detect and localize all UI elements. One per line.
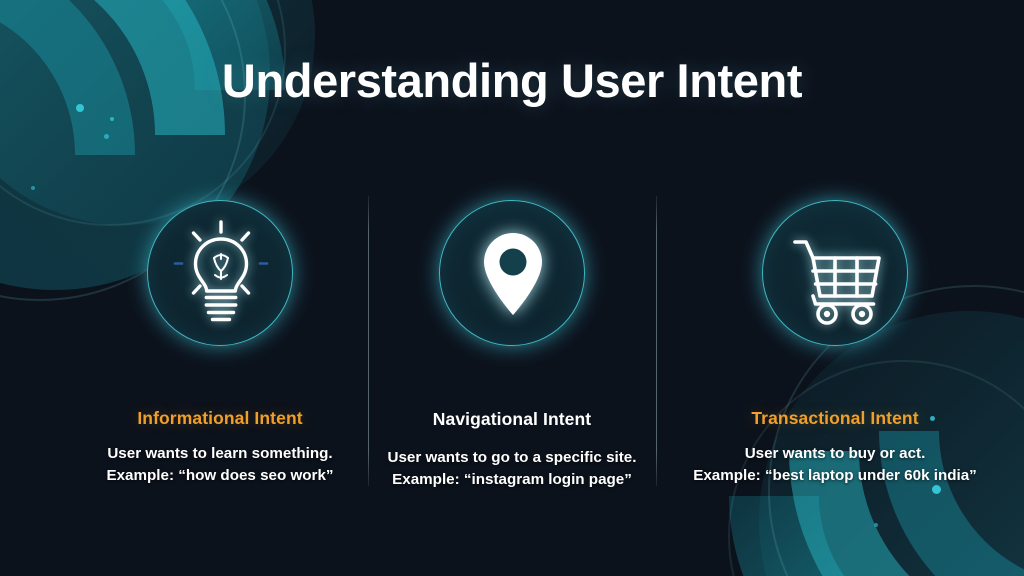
icon-badge-navigational: [439, 200, 585, 346]
description-navigational: User wants to go to a specific site. Exa…: [332, 447, 692, 492]
lightbulb-icon: [148, 201, 294, 347]
icon-badge-informational: [147, 200, 293, 346]
shopping-cart-icon: [763, 201, 909, 347]
heading-transactional: Transactional Intent: [655, 408, 1015, 429]
accent-dot: [104, 134, 109, 139]
description-line-2: Example: “best laptop under 60k india”: [655, 465, 1015, 487]
accent-dot: [874, 523, 878, 527]
column-transactional: Transactional Intent User wants to buy o…: [655, 200, 1015, 488]
description-line-1: User wants to buy or act.: [655, 443, 1015, 465]
accent-dot: [110, 117, 114, 121]
description-line-1: User wants to go to a specific site.: [332, 447, 692, 469]
page-title: Understanding User Intent: [0, 53, 1024, 108]
map-pin-icon: [440, 201, 586, 347]
icon-badge-transactional: [762, 200, 908, 346]
description-line-2: Example: “instagram login page”: [332, 469, 692, 491]
description-transactional: User wants to buy or act. Example: “best…: [655, 443, 1015, 488]
accent-dot: [31, 186, 35, 190]
icon-ring: [762, 200, 908, 346]
icon-ring: [147, 200, 293, 346]
heading-navigational: Navigational Intent: [332, 409, 692, 430]
column-navigational: Navigational Intent User wants to go to …: [332, 200, 692, 492]
slide-canvas: Understanding User Intent: [0, 0, 1024, 576]
icon-ring: [439, 200, 585, 346]
